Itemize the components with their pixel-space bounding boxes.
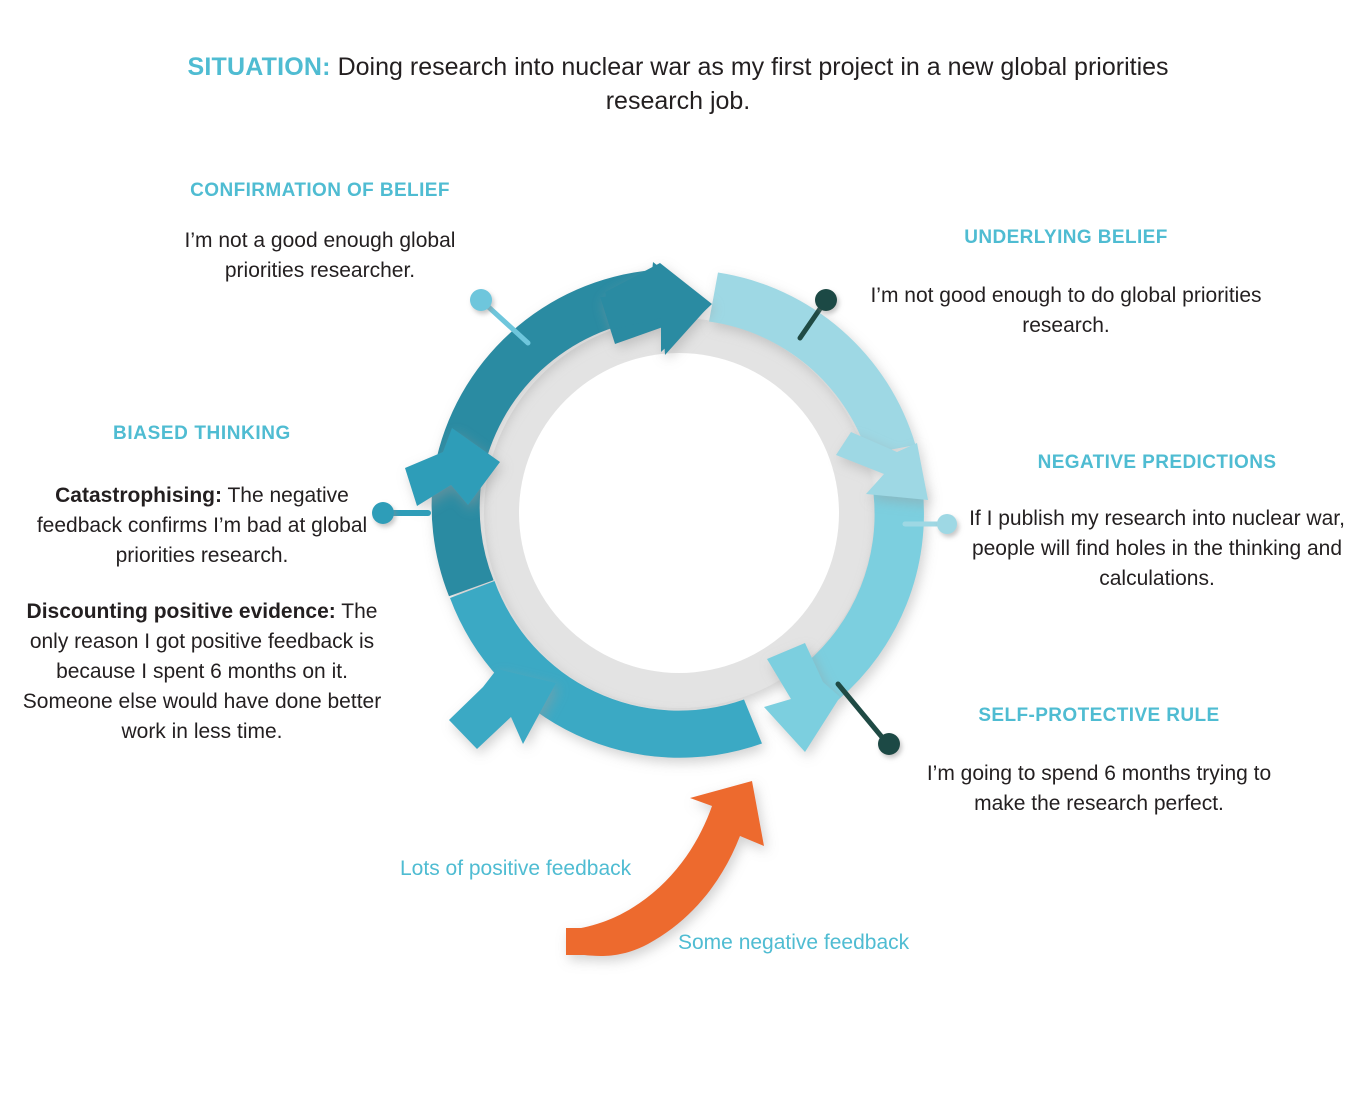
biased-thinking-heading: BIASED THINKING (22, 421, 382, 447)
pin-underlying-belief (800, 289, 837, 338)
negative-predictions-heading: NEGATIVE PREDICTIONS (958, 450, 1356, 476)
discounting-label: Discounting positive evidence: (27, 600, 336, 623)
confirmation-body: I’m not a good enough global priorities … (170, 226, 470, 286)
underlying-belief-body: I’m not good enough to do global priorit… (862, 281, 1270, 341)
callout-negative-predictions: NEGATIVE PREDICTIONS If I publish my res… (958, 450, 1356, 594)
ring-arrowheads (405, 262, 928, 752)
confirmation-heading: CONFIRMATION OF BELIEF (170, 178, 470, 204)
biased-item-discounting: Discounting positive evidence: The only … (22, 597, 382, 747)
callout-underlying-belief: UNDERLYING BELIEF I’m not good enough to… (862, 225, 1270, 341)
ring-segments (432, 270, 924, 758)
arrowhead-right-clockwise (836, 432, 928, 500)
situation-label: SITUATION: (187, 53, 330, 81)
callout-biased-thinking: BIASED THINKING Catastrophising: The neg… (22, 421, 382, 747)
catastrophising-label: Catastrophising: (55, 484, 222, 507)
arrowhead-top-fill (605, 263, 712, 352)
segment-biased-thinking-arc (432, 468, 494, 596)
callout-self-protective-rule: SELF-PROTECTIVE RULE I’m going to spend … (902, 703, 1296, 819)
pin-negative-predictions (905, 514, 957, 534)
self-protective-rule-body: I’m going to spend 6 months trying to ma… (902, 759, 1296, 819)
situation-statement: SITUATION: Doing research into nuclear w… (178, 50, 1178, 118)
label-negative-feedback: Some negative feedback (678, 929, 909, 957)
inner-grey-ring (484, 318, 874, 708)
connector-pins (372, 289, 957, 755)
label-positive-feedback: Lots of positive feedback (400, 855, 631, 883)
biased-thinking-body: Catastrophising: The negative feedback c… (22, 481, 382, 747)
pin-self-protective-rule (838, 684, 900, 755)
negative-predictions-body: If I publish my research into nuclear wa… (958, 504, 1356, 594)
arrowhead-top-clockwise (600, 262, 709, 355)
arrowhead-left-clockwise (405, 428, 500, 506)
arrowhead-bottom-right-clockwise (764, 643, 840, 752)
segment-negative-predictions-arc (805, 487, 924, 700)
segment-self-protective-rule-arc (450, 581, 762, 758)
callout-confirmation-of-belief: CONFIRMATION OF BELIEF I’m not a good en… (170, 178, 470, 286)
biased-item-catastrophising: Catastrophising: The negative feedback c… (22, 481, 382, 571)
segment-confirmation-arc (435, 270, 654, 478)
arrowhead-bottom-left-clockwise (449, 669, 556, 749)
self-protective-rule-heading: SELF-PROTECTIVE RULE (902, 703, 1296, 729)
diagram-canvas: SITUATION: Doing research into nuclear w… (0, 0, 1356, 1114)
situation-text: Doing research into nuclear war as my fi… (331, 53, 1169, 115)
underlying-belief-heading: UNDERLYING BELIEF (862, 225, 1270, 251)
pin-confirmation (470, 289, 528, 343)
